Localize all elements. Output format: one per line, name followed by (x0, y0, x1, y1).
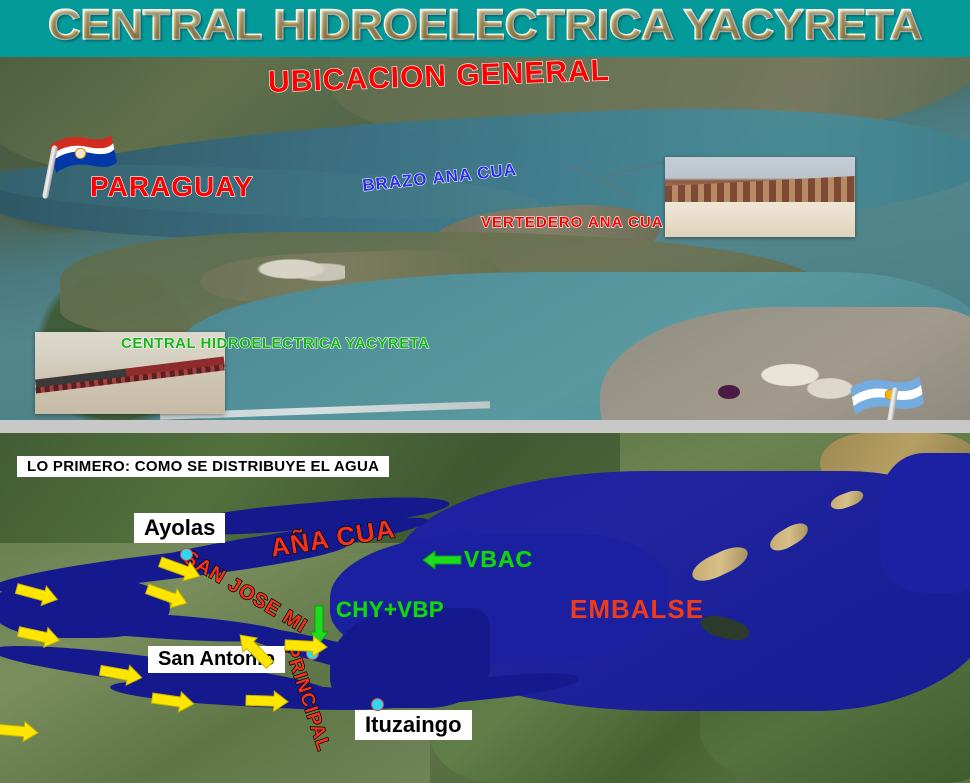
embalse-reservoir-east-arm (880, 453, 970, 593)
label-ituzaingo: Ituzaingo (355, 710, 472, 740)
panel-divider (0, 420, 970, 433)
terrain-argentina-fields (760, 357, 860, 402)
flow-arrow-icon-6 (282, 632, 329, 660)
left-arrow-icon-vbac (421, 548, 463, 572)
bottom-satellite-panel: LO PRIMERO: COMO SE DISTRIBUYE EL AGUA A… (0, 433, 970, 783)
urban-area (255, 253, 345, 285)
top-satellite-panel: UBICACION GENERAL PARAGUAY ARGENTINA BRA… (0, 57, 970, 420)
slide-header: CENTRAL HIDROELECTRICA YACYRETA (0, 0, 970, 57)
marker-ituzaingo (371, 698, 384, 711)
label-vertedero-ana-cua: VERTEDERO ANA CUA (481, 214, 664, 231)
flow-arrow-icon-10 (0, 716, 41, 746)
label-chy-vbp: CHY+VBP (336, 597, 444, 623)
bottom-panel-heading: LO PRIMERO: COMO SE DISTRIBUYE EL AGUA (17, 456, 389, 477)
label-vbac: VBAC (464, 546, 533, 573)
label-paraguay: PARAGUAY (90, 171, 254, 203)
bottom-satellite-image (0, 433, 970, 783)
flow-arrow-icon-9 (244, 687, 291, 715)
label-central-hidroelectrica-yacyreta: CENTRAL HIDROELECTRICA YACYRETA (121, 335, 430, 352)
ana-cua-spillway-photo (665, 157, 855, 237)
spillway-discharge (665, 202, 855, 237)
page-title: CENTRAL HIDROELECTRICA YACYRETA (0, 1, 970, 50)
label-ayolas: Ayolas (134, 513, 225, 543)
terrain-dark-patch (718, 385, 740, 399)
slide-root: CENTRAL HIDROELECTRICA YACYRETA (0, 0, 970, 783)
label-embalse: EMBALSE (570, 594, 704, 625)
